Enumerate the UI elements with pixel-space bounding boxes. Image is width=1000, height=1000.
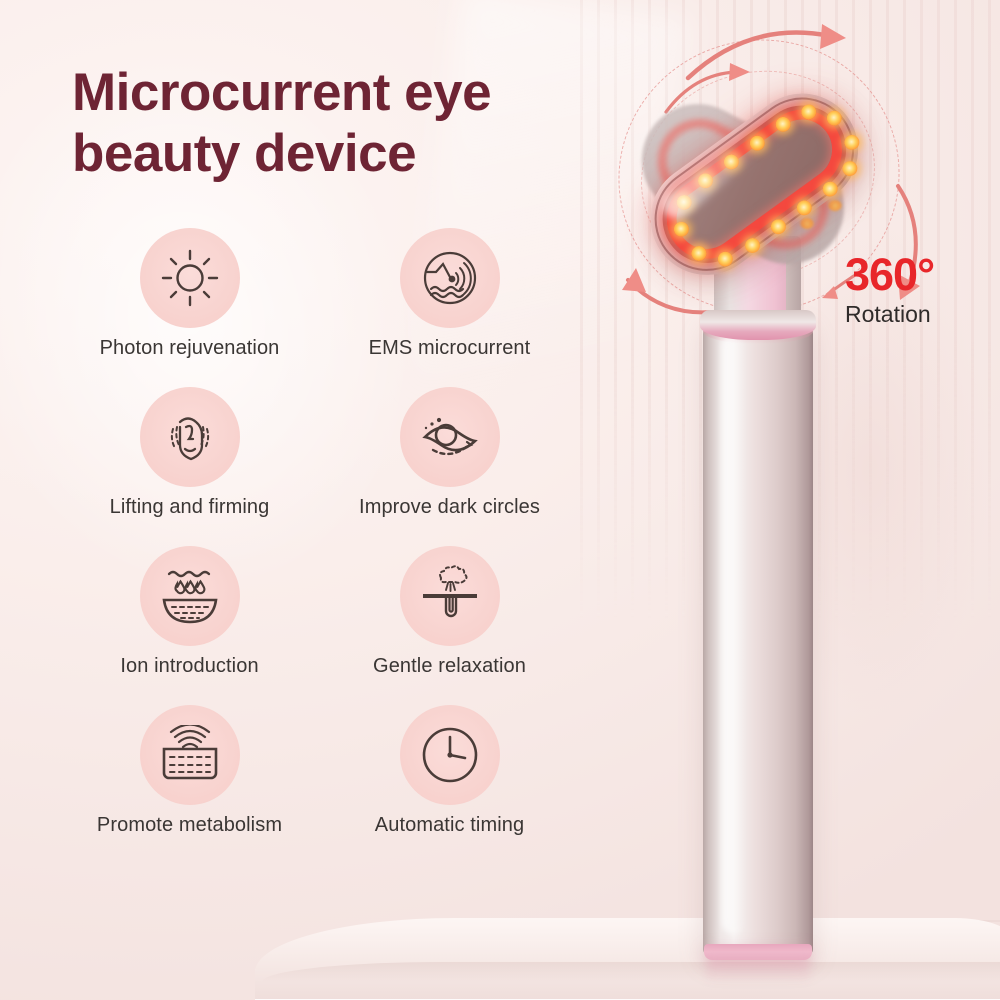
feature-item-ion-introduction[interactable]: Ion introduction xyxy=(62,546,317,678)
feature-item-ems-microcurrent[interactable]: EMS microcurrent xyxy=(322,228,577,360)
rotation-callout: 360° Rotation xyxy=(845,252,934,329)
device-base-reflection xyxy=(706,958,810,984)
feature-label: Ion introduction xyxy=(120,655,258,678)
feature-item-improve-dark-circles[interactable]: Improve dark circles xyxy=(322,387,577,519)
feature-badge xyxy=(140,705,240,805)
feature-badge xyxy=(140,228,240,328)
table-edge xyxy=(262,962,1000,982)
feature-badge xyxy=(140,546,240,646)
clock-icon xyxy=(419,724,481,786)
device-handle-highlight xyxy=(722,334,746,934)
feature-badge xyxy=(400,387,500,487)
led-dot xyxy=(671,219,692,240)
feature-grid: Photon rejuvenation EMS microcurrent xyxy=(62,228,582,837)
feature-item-gentle-relaxation[interactable]: Gentle relaxation xyxy=(322,546,577,678)
feature-label: Photon rejuvenation xyxy=(100,337,280,360)
feature-badge xyxy=(400,546,500,646)
sun-icon xyxy=(160,248,220,308)
eye-icon xyxy=(417,409,483,465)
feature-item-automatic-timing[interactable]: Automatic timing xyxy=(322,705,577,837)
feature-badge xyxy=(400,705,500,805)
face-lift-icon xyxy=(158,405,222,469)
feature-item-lifting-and-firming[interactable]: Lifting and firming xyxy=(62,387,317,519)
table-surface xyxy=(255,918,1000,1000)
skin-waves-icon xyxy=(156,725,224,785)
device-handle xyxy=(703,318,813,956)
feature-label: Promote metabolism xyxy=(97,814,282,837)
feature-badge xyxy=(140,387,240,487)
feature-label: Lifting and firming xyxy=(110,496,270,519)
title-line-1: Microcurrent eye xyxy=(72,62,632,123)
feature-item-promote-metabolism[interactable]: Promote metabolism xyxy=(62,705,317,837)
feature-badge xyxy=(400,228,500,328)
feature-item-photon-rejuvenation[interactable]: Photon rejuvenation xyxy=(62,228,317,360)
feature-label: EMS microcurrent xyxy=(369,337,531,360)
signal-wave-icon xyxy=(418,246,482,310)
ion-bowl-icon xyxy=(157,566,223,626)
feature-label: Improve dark circles xyxy=(359,496,540,519)
page-title: Microcurrent eye beauty device xyxy=(72,62,632,185)
pore-steam-icon xyxy=(417,565,483,627)
rotation-degrees: 360° xyxy=(845,252,934,297)
rotation-caption: Rotation xyxy=(845,300,934,329)
feature-label: Automatic timing xyxy=(375,814,524,837)
feature-label: Gentle relaxation xyxy=(373,655,526,678)
title-line-2: beauty device xyxy=(72,123,632,184)
